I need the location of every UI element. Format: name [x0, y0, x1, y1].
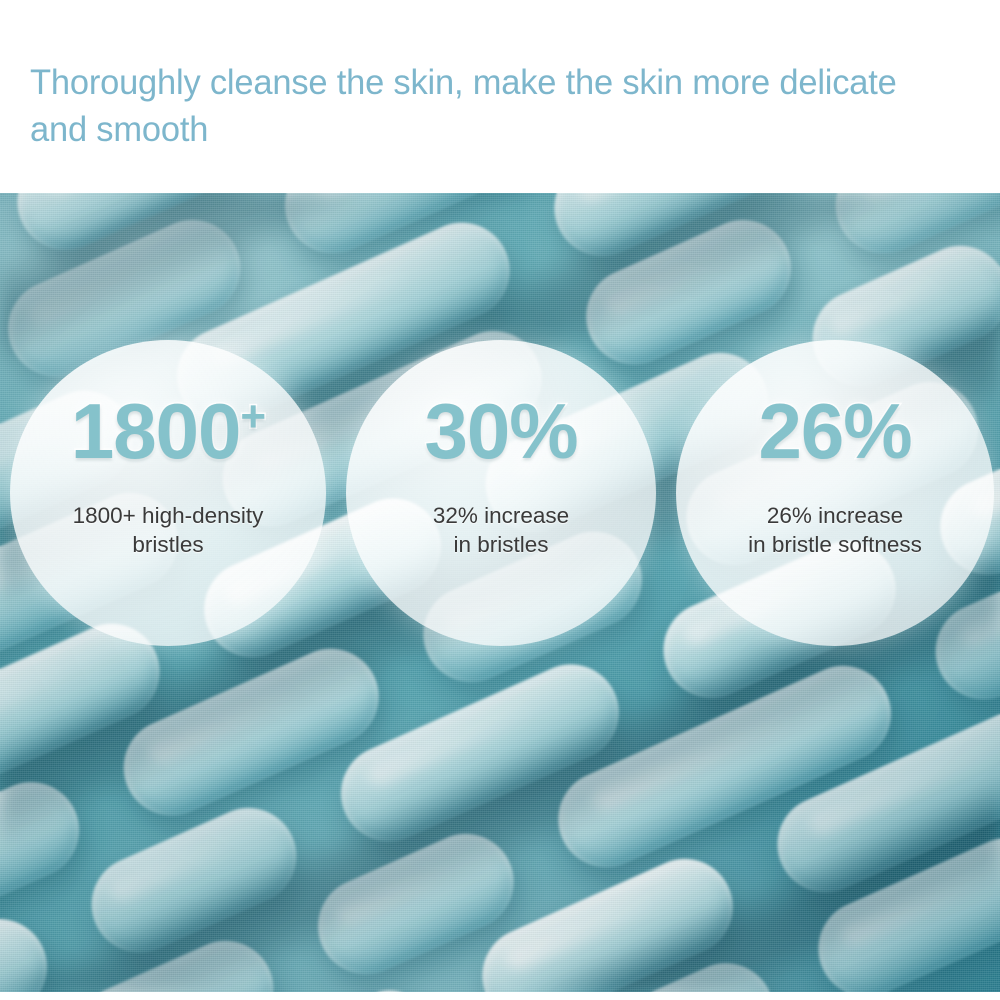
- footer-white-strip: [0, 992, 1000, 1000]
- stat-circle-softness-increase: 26% 26% increase in bristle softness: [676, 340, 994, 646]
- stat-circle-bristle-count: 1800+ 1800+ high-density bristles: [10, 340, 326, 646]
- stat-number-3-value: 26%: [758, 387, 911, 475]
- heading-band: Thoroughly cleanse the skin, make the sk…: [0, 0, 1000, 193]
- stat-caption-2: 32% increase in bristles: [433, 501, 569, 560]
- stat-number-2-value: 30%: [424, 387, 577, 475]
- stat-number-1: 1800+: [71, 394, 265, 469]
- product-feature-banner: Thoroughly cleanse the skin, make the sk…: [0, 0, 1000, 1000]
- stat-caption-1: 1800+ high-density bristles: [73, 501, 264, 560]
- stat-caption-3: 26% increase in bristle softness: [748, 501, 922, 560]
- stat-number-1-suffix: +: [240, 392, 265, 441]
- stat-circle-group: 1800+ 1800+ high-density bristles 30% 32…: [0, 340, 1000, 646]
- bristle-capsule: [0, 904, 62, 992]
- stat-number-2: 30%: [424, 394, 577, 469]
- stat-number-1-value: 1800: [71, 387, 241, 475]
- page-title: Thoroughly cleanse the skin, make the sk…: [30, 60, 958, 153]
- stat-number-3: 26%: [758, 394, 911, 469]
- stat-circle-bristle-increase: 30% 32% increase in bristles: [346, 340, 656, 646]
